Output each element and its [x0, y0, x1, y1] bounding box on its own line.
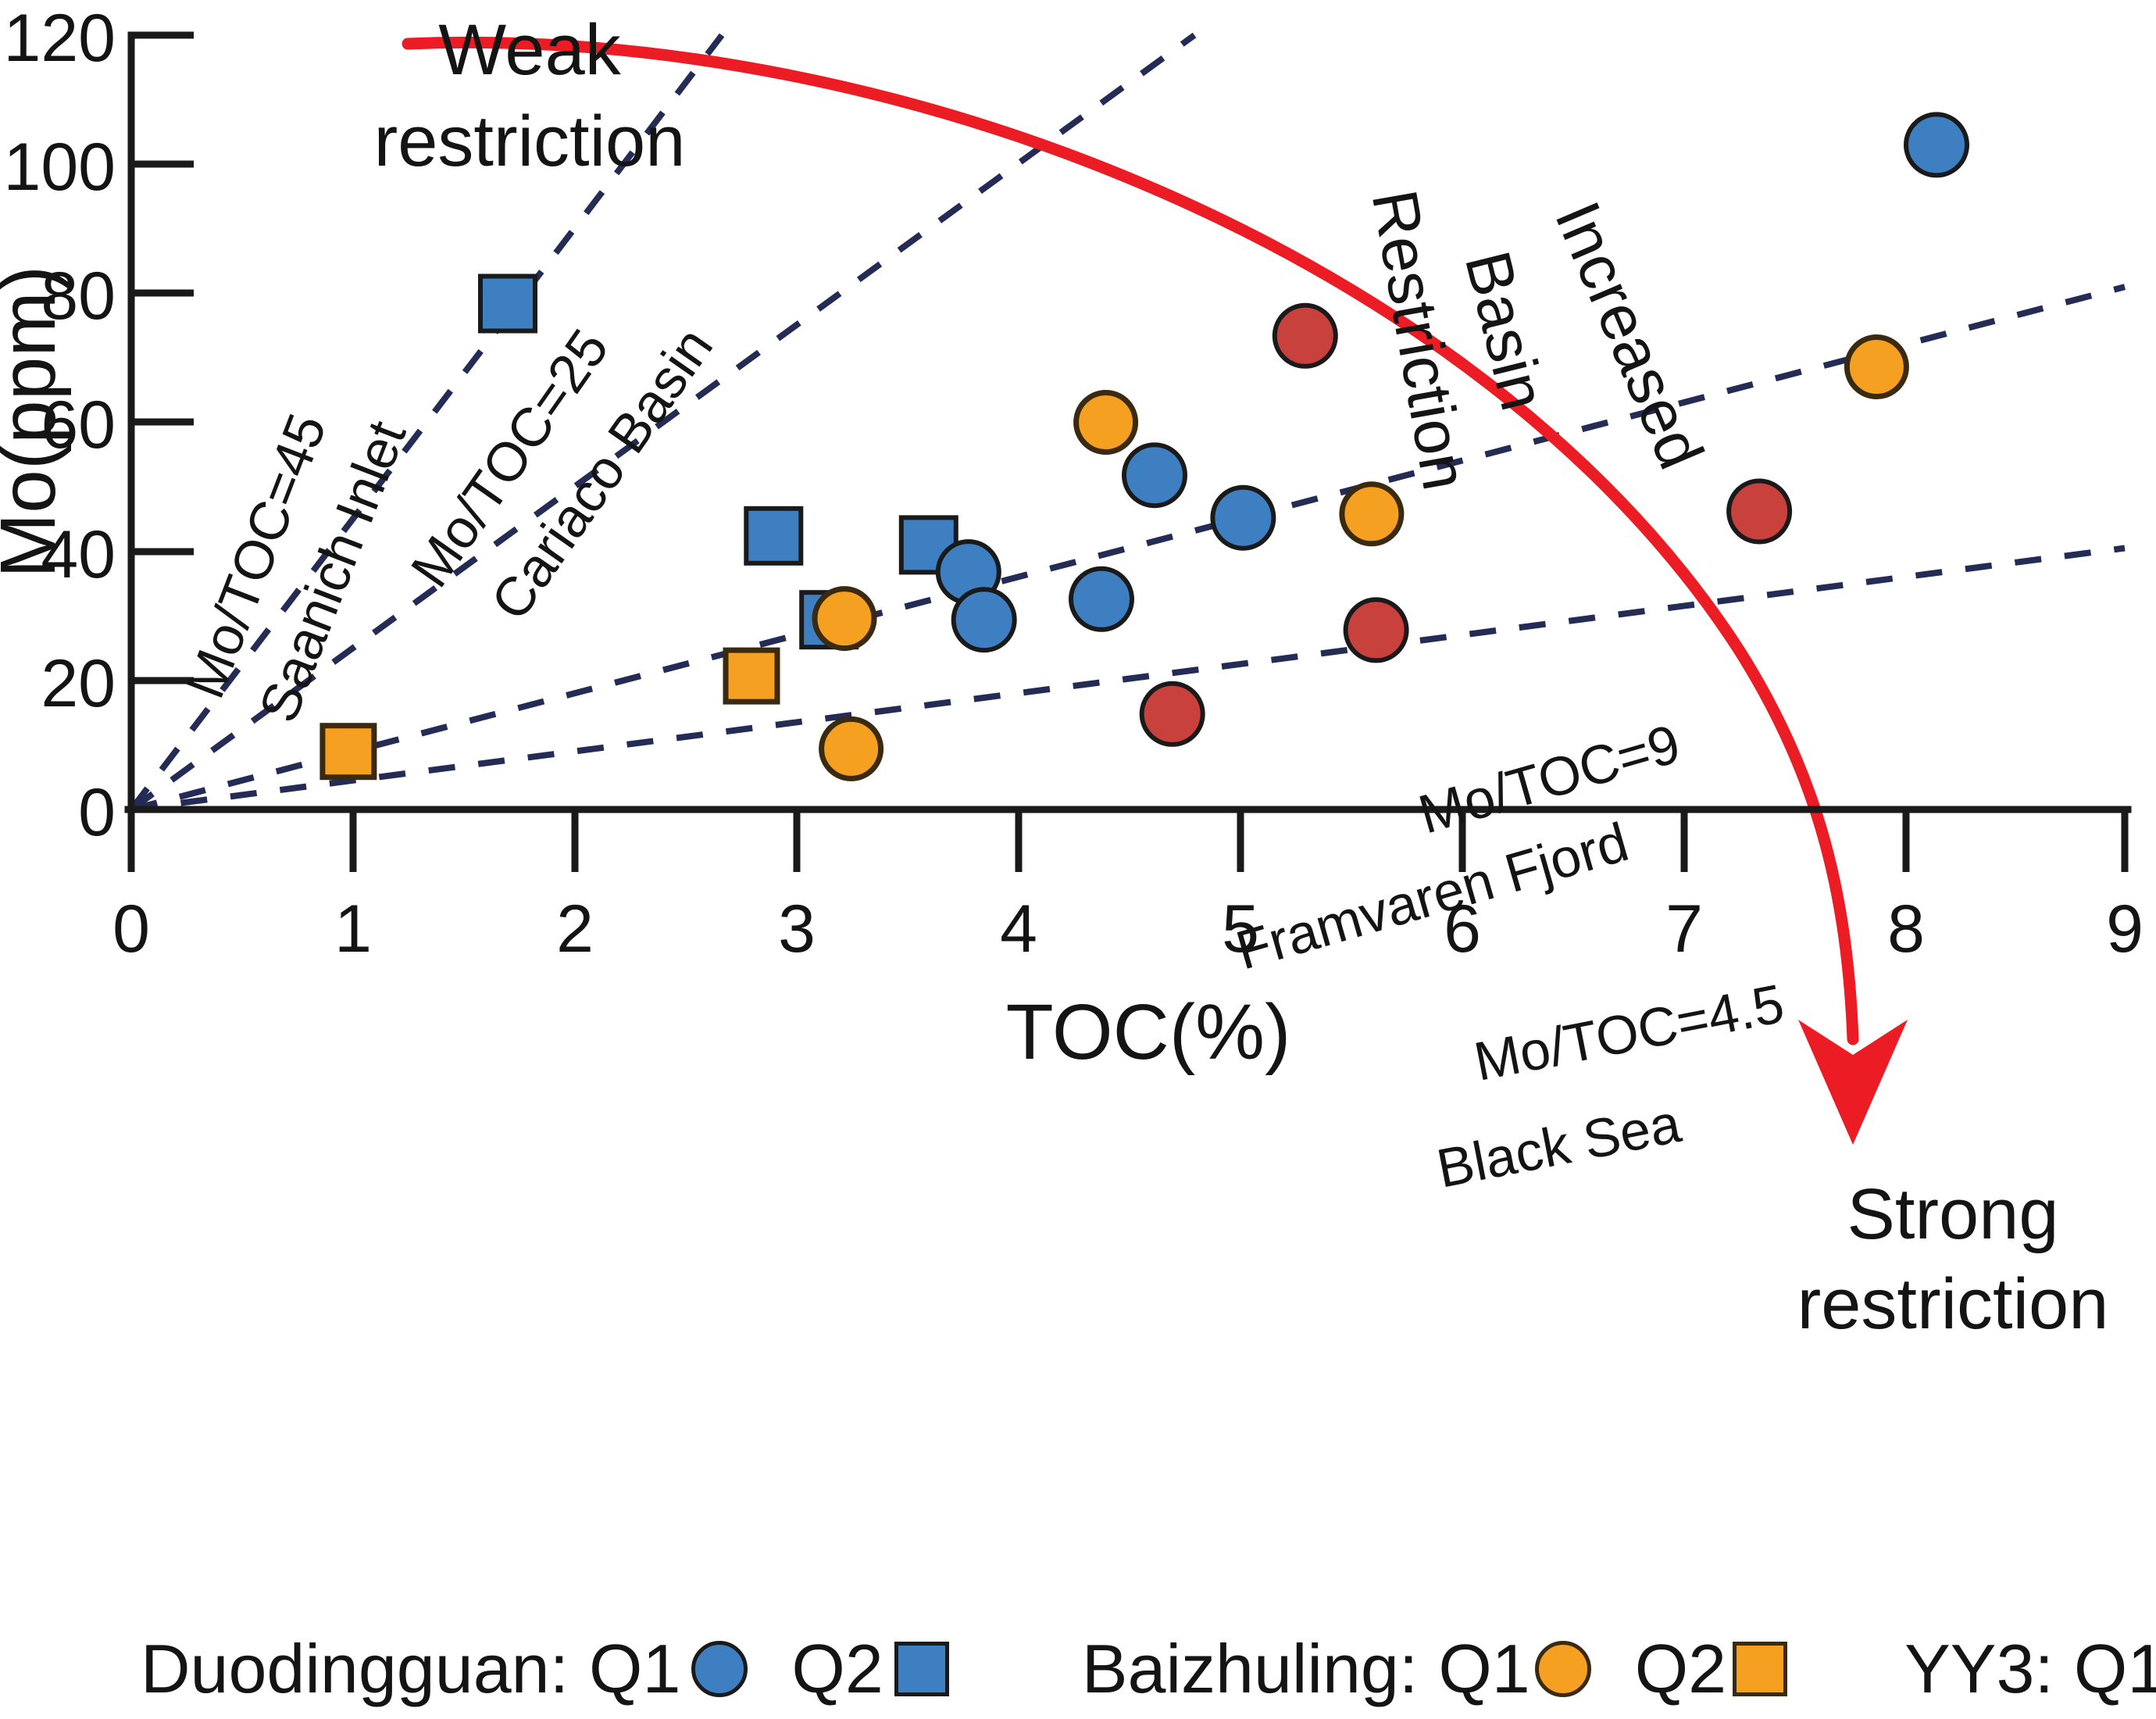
refline-label-mo-toc-4p5: Mo/TOC=4.5 [1469, 973, 1789, 1092]
data-point[interactable] [1142, 684, 1203, 745]
x-ticklabel-2: 2 [556, 892, 594, 967]
y-ticklabel-0: 0 [78, 775, 116, 850]
data-point[interactable] [1847, 338, 1906, 397]
legend-group-yy3: YY3: Q1 [1904, 1629, 2156, 1709]
restriction-arc-group [408, 42, 1908, 1145]
legend-duodingguan-q1-text: Q1 [589, 1629, 680, 1709]
legend-baizhuling-q2-text: Q2 [1635, 1629, 1726, 1709]
data-point[interactable] [323, 726, 374, 777]
y-ticklabel-20: 20 [41, 646, 116, 721]
data-point[interactable] [1275, 306, 1336, 366]
data-point[interactable] [1342, 484, 1401, 544]
x-ticklabel-4: 4 [1000, 892, 1037, 967]
x-ticklabel-3: 3 [778, 892, 816, 967]
scatter-plot-svg: 120 100 80 60 40 20 0 Mo(ppm) 0 1 2 3 [0, 0, 2156, 1719]
data-point[interactable] [1906, 114, 1967, 175]
x-ticklabel-0: 0 [112, 892, 150, 967]
x-ticklabel-7: 7 [1665, 892, 1703, 967]
y-ticklabel-100: 100 [4, 130, 116, 205]
legend-duodingguan-q2-text: Q2 [791, 1629, 883, 1709]
legend-swatch-duodingguan-q2-square-icon [894, 1642, 949, 1696]
series-baizhuling-q2-markers [323, 650, 777, 777]
data-point[interactable] [1124, 445, 1185, 506]
arc-word-increased: Increased [1541, 192, 1716, 479]
data-point[interactable] [726, 650, 777, 702]
data-point[interactable] [480, 277, 535, 331]
data-point[interactable] [1076, 393, 1136, 452]
arc-word-basin: Basin [1451, 245, 1559, 417]
strong-restriction-line2: restriction [1797, 1264, 2109, 1344]
legend-baizhuling-q1-text: Q1 [1438, 1629, 1530, 1709]
y-ticklabel-120: 120 [4, 1, 116, 76]
strong-restriction-line1: Strong [1847, 1174, 2058, 1254]
y-axis-title: Mo(ppm) [0, 266, 72, 578]
data-point[interactable] [1729, 481, 1790, 542]
legend-swatch-duodingguan-q1-circle-icon [691, 1641, 748, 1697]
x-ticklabel-8: 8 [1887, 892, 1925, 967]
restriction-arc [408, 42, 1853, 1039]
weak-restriction-line1: Weak [438, 10, 622, 90]
data-point[interactable] [1212, 488, 1273, 549]
chart-legend: Duodingguan: Q1 Q2 Baizhuling: Q1 Q2 YY3… [0, 1619, 2156, 1719]
legend-swatch-baizhuling-q2-square-icon [1733, 1642, 1787, 1696]
strong-restriction-label: Strong restriction [1797, 1174, 2109, 1344]
arc-word-restriction: Restriction [1358, 185, 1481, 495]
data-point[interactable] [1346, 599, 1407, 660]
y-axis-group: 120 100 80 60 40 20 0 Mo(ppm) [0, 1, 194, 850]
x-ticklabel-9: 9 [2106, 892, 2144, 967]
data-point[interactable] [746, 509, 801, 563]
arc-annotation-group: Increased Basin Restriction [1358, 185, 1717, 495]
x-axis-group: 0 1 2 3 4 5 6 7 8 9 TOC(%) [112, 809, 2144, 1076]
refline-labels-group: Mo/TOC=45 Saanich Inlet Mo/TOC=25 Cariac… [174, 316, 1789, 1199]
data-point[interactable] [954, 589, 1015, 650]
legend-label-yy3: YY3: [1904, 1629, 2054, 1709]
refline-label-black-sea: Black Sea [1432, 1092, 1685, 1199]
legend-yy3-q1-text: Q1 [2074, 1629, 2156, 1709]
data-point[interactable] [822, 719, 881, 778]
weak-restriction-line2: restriction [374, 102, 686, 181]
legend-label-duodingguan: Duodingguan: [141, 1629, 569, 1709]
data-point[interactable] [1071, 569, 1132, 630]
legend-label-baizhuling: Baizhuling: [1082, 1629, 1419, 1709]
legend-swatch-baizhuling-q1-circle-icon [1535, 1641, 1591, 1697]
chart-root: 120 100 80 60 40 20 0 Mo(ppm) 0 1 2 3 [0, 0, 2156, 1719]
data-point[interactable] [815, 589, 874, 649]
x-axis-title: TOC(%) [1006, 988, 1291, 1076]
weak-restriction-label: Weak restriction [374, 10, 686, 181]
legend-group-baizhuling: Baizhuling: Q1 Q2 [1082, 1629, 1787, 1709]
refline-label-mo-toc-9: Mo/TOC=9 [1412, 713, 1687, 845]
x-ticklabel-1: 1 [334, 892, 372, 967]
legend-group-duodingguan: Duodingguan: Q1 Q2 [141, 1629, 949, 1709]
